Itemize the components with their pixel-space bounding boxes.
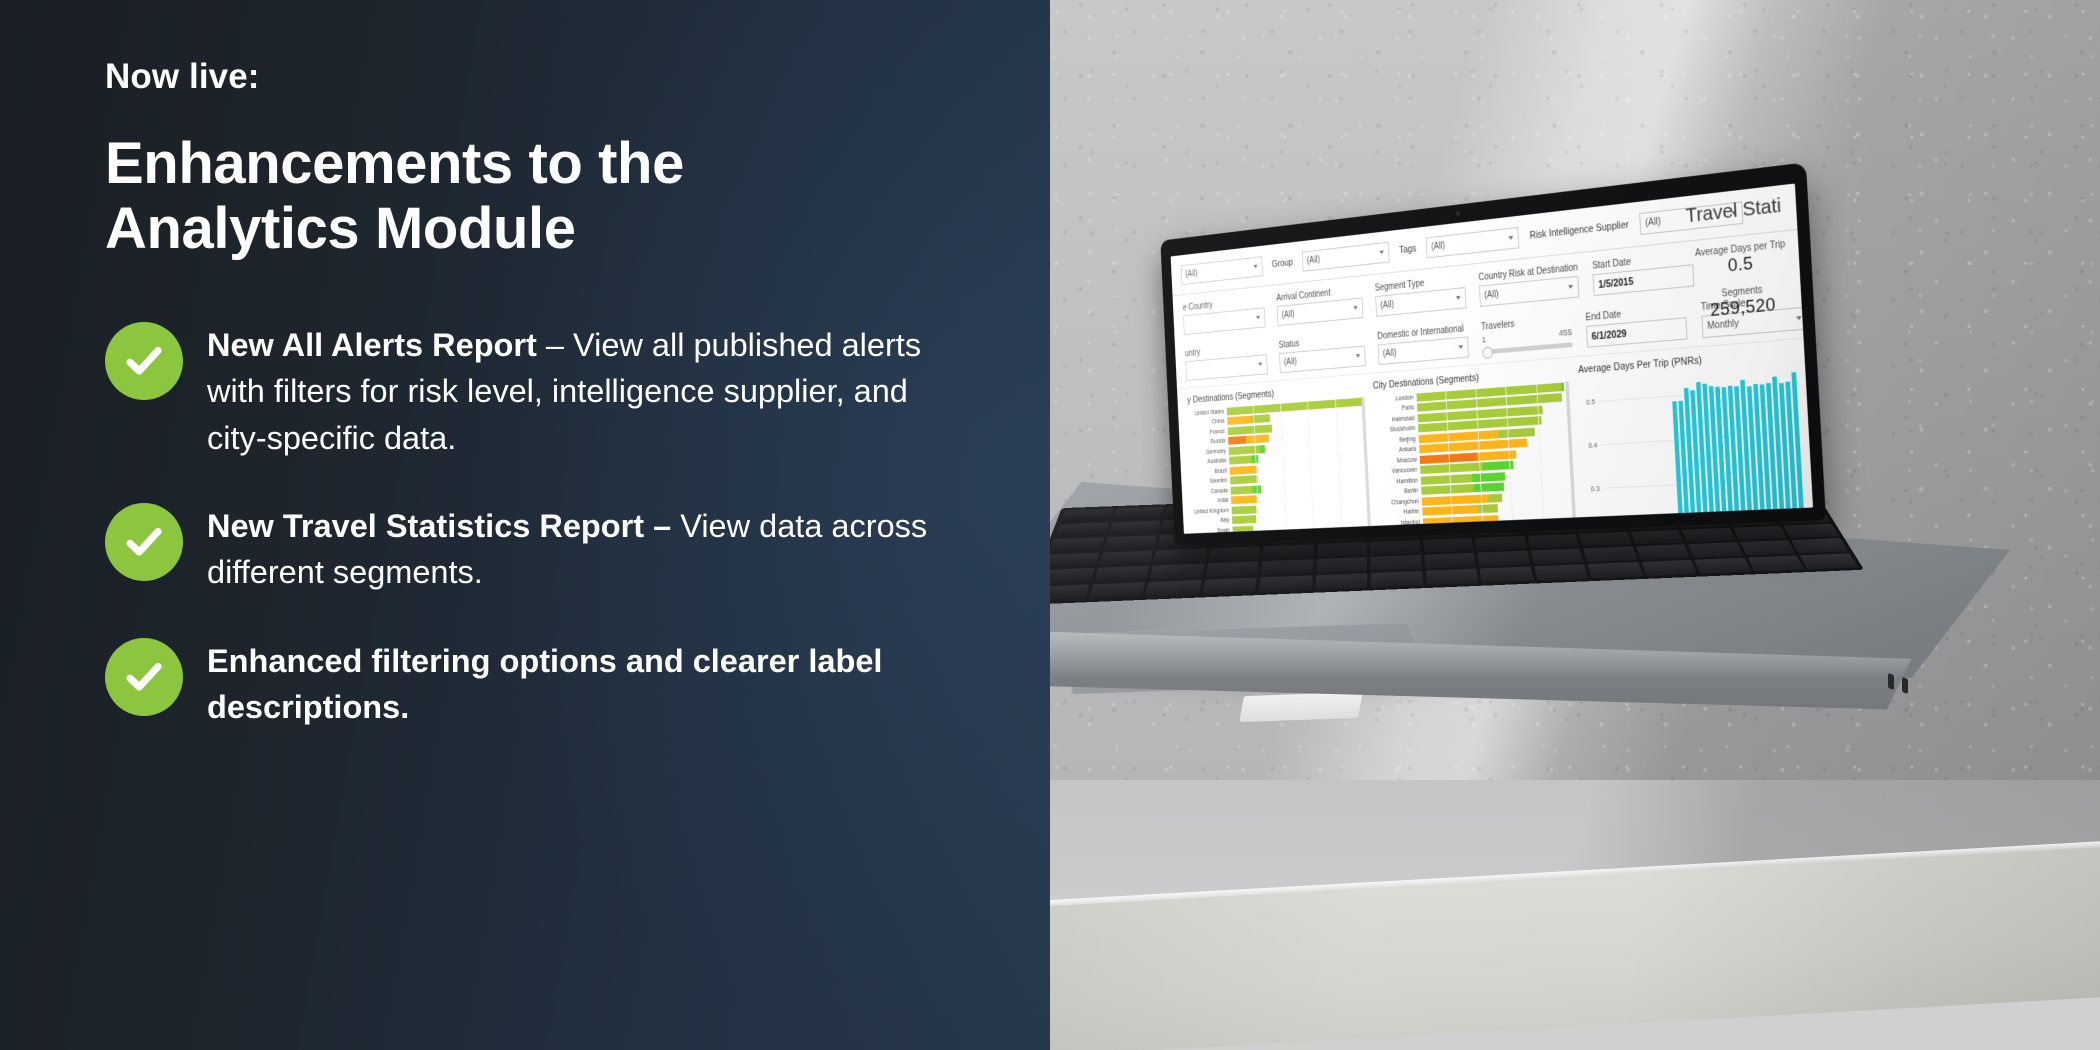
- filter-value: 6/1/2029: [1591, 328, 1626, 342]
- promo-banner: Now live: Enhancements to the Analytics …: [0, 0, 2100, 1050]
- keyboard-key[interactable]: [1145, 580, 1201, 597]
- category-label: Beijing: [1373, 436, 1419, 445]
- bar-segment-low: [1231, 505, 1256, 514]
- keyboard-key[interactable]: [1098, 550, 1153, 566]
- filter-field: End Date6/1/2029: [1585, 304, 1687, 348]
- analytics-dashboard: (All)▼Group(All)▼Tags(All)▼Risk Intellig…: [1171, 183, 1813, 533]
- filter-field: Travelers1455: [1481, 314, 1573, 356]
- keyboard-key[interactable]: [1050, 552, 1099, 568]
- bar-group: [1597, 364, 1809, 534]
- category-label: Sweden: [1188, 478, 1230, 486]
- category-label: Ankara: [1373, 446, 1419, 455]
- chevron-down-icon: ▼: [1457, 344, 1465, 351]
- chart-country-destinations: y Destinations (Segments) United StatesC…: [1184, 381, 1376, 533]
- bar-group: LondonParisHalmstadStockholmBeijingAnkar…: [1370, 381, 1581, 534]
- front-latch: [1239, 692, 1362, 722]
- category-label: Germany: [1187, 448, 1229, 457]
- bar-segment-negligible: [1561, 382, 1564, 391]
- bar-segment-negligible: [1472, 472, 1505, 482]
- feature-text: New All Alerts Report – View all publish…: [207, 318, 967, 461]
- category-label: Vancouver: [1374, 467, 1420, 476]
- bar-segment-low: [1230, 475, 1258, 484]
- chart-city-destinations: City Destinations (Segments) LondonParis…: [1370, 365, 1582, 533]
- filter-value: (All): [1307, 255, 1321, 266]
- feature-text: Enhanced filtering options and clearer l…: [207, 634, 967, 731]
- keyboard-key[interactable]: [1530, 549, 1583, 565]
- category-label: India: [1189, 498, 1231, 506]
- filter-value: (All): [1645, 216, 1661, 228]
- keyboard-key[interactable]: [1208, 546, 1261, 562]
- keyboard-key[interactable]: [1093, 566, 1149, 582]
- chart-average-days-per-trip: Average Days Per Trip (PNRs) 0.00.10.20.…: [1575, 347, 1811, 533]
- category-label: Hamilton: [1375, 477, 1421, 486]
- keyboard-key[interactable]: [1784, 524, 1839, 539]
- filter-dropdown[interactable]: (All)▼: [1378, 336, 1469, 365]
- bar-segment-negligible: [1252, 485, 1261, 493]
- category-label: Brazil: [1188, 468, 1230, 476]
- y-tick-label: 0.3: [1591, 484, 1600, 493]
- headline-line-1: Enhancements to the: [105, 131, 805, 197]
- bar-segment-low: [1230, 486, 1252, 495]
- check-circle-icon: [105, 503, 183, 581]
- bar-segment-low: [1229, 445, 1261, 455]
- kpi-card: Average Days per Trip0.5: [1695, 239, 1787, 280]
- keyboard-key[interactable]: [1149, 564, 1204, 580]
- filter-field: Country Risk at Destination(All)▼: [1478, 263, 1579, 307]
- keyboard-key[interactable]: [1588, 562, 1643, 578]
- filter-label: Risk Intelligence Supplier: [1529, 219, 1629, 241]
- bar-segment-low: [1232, 525, 1253, 533]
- filter-value: (All): [1185, 268, 1198, 279]
- category-label: China: [1185, 418, 1227, 427]
- left-content-panel: Now live: Enhancements to the Analytics …: [0, 0, 1050, 1050]
- keyboard-key[interactable]: [1688, 542, 1743, 557]
- keyboard-key[interactable]: [1060, 508, 1113, 522]
- y-tick-label: 0.4: [1588, 440, 1597, 449]
- keyboard-key[interactable]: [1103, 535, 1157, 550]
- keyboard-key[interactable]: [1202, 578, 1257, 595]
- laptop-lid: (All)▼Group(All)▼Tags(All)▼Risk Intellig…: [1160, 162, 1826, 545]
- category-label: Berlin: [1375, 488, 1421, 497]
- laptop-device: (All)▼Group(All)▼Tags(All)▼Risk Intellig…: [1050, 160, 2100, 820]
- keyboard-key[interactable]: [1055, 523, 1109, 538]
- category-label: Australia: [1187, 458, 1229, 467]
- filter-dropdown[interactable]: (All)▼: [1181, 256, 1263, 285]
- keyboard-key[interactable]: [1261, 559, 1314, 575]
- keyboard-key[interactable]: [1636, 544, 1691, 560]
- category-label: Canada: [1189, 488, 1231, 496]
- check-circle-icon: [105, 322, 183, 400]
- webcam-icon: [1456, 211, 1460, 216]
- keyboard-key[interactable]: [1205, 562, 1259, 578]
- category-label: Changchun: [1376, 498, 1422, 506]
- eyebrow-text: Now live:: [105, 58, 1050, 97]
- bar-segment-medium: [1423, 515, 1499, 526]
- feature-item: New All Alerts Report – View all publish…: [105, 318, 1050, 461]
- filter-value: (All): [1380, 300, 1394, 311]
- bar-segment-medium: [1227, 416, 1252, 425]
- keyboard-key[interactable]: [1792, 538, 1849, 553]
- slider-min: 1: [1482, 335, 1487, 345]
- usb-port-icon: [1888, 673, 1894, 690]
- filter-value: (All): [1284, 357, 1297, 368]
- keyboard-key[interactable]: [1050, 537, 1104, 552]
- category-label: France: [1186, 428, 1228, 437]
- keyboard-key[interactable]: [1695, 558, 1752, 574]
- keyboard-key[interactable]: [1480, 566, 1534, 582]
- bar-segment-negligible: [1260, 445, 1266, 453]
- chevron-down-icon: ▼: [1257, 361, 1264, 368]
- keyboard-key[interactable]: [1088, 582, 1146, 599]
- keyboard-key[interactable]: [1631, 530, 1685, 545]
- bar-segment-low: [1229, 456, 1252, 465]
- desk-surface: [1050, 780, 2100, 1050]
- keyboard-key[interactable]: [1527, 534, 1579, 549]
- filter-field: Arrival Continent(All)▼: [1276, 285, 1363, 326]
- keyboard-key[interactable]: [1740, 540, 1796, 555]
- keyboard-key[interactable]: [1800, 553, 1858, 569]
- keyboard-key[interactable]: [1641, 560, 1697, 576]
- chevron-down-icon: ▼: [1454, 295, 1462, 302]
- category-label: Italy: [1190, 517, 1232, 525]
- column-chart: 0.00.10.20.30.40.520232024: [1575, 364, 1810, 534]
- category-label: Halmstad: [1371, 415, 1417, 424]
- kpi-card: Segments259,520: [1697, 283, 1789, 323]
- bar-segment-low: [1423, 527, 1467, 534]
- filter-field: untry▼: [1185, 342, 1268, 381]
- keyboard-key[interactable]: [1579, 532, 1632, 547]
- keyboard-key[interactable]: [1475, 536, 1527, 551]
- slider-max: 455: [1558, 327, 1572, 338]
- keyboard-key[interactable]: [1477, 551, 1530, 567]
- range-slider[interactable]: 1455: [1482, 327, 1573, 354]
- keyboard-key[interactable]: [1682, 528, 1736, 543]
- feature-title: New Travel Statistics Report –: [207, 508, 671, 544]
- feature-item: New Travel Statistics Report – View data…: [105, 499, 1050, 596]
- category-label: Spain: [1191, 527, 1233, 534]
- bar-segment-medium: [1230, 465, 1258, 474]
- filter-dropdown[interactable]: (All)▼: [1302, 241, 1390, 271]
- category-label: United States: [1185, 408, 1227, 417]
- keyboard-key[interactable]: [1108, 521, 1161, 536]
- chevron-down-icon: ▼: [1352, 305, 1360, 312]
- feature-title: New All Alerts Report: [207, 327, 537, 363]
- category-label: Harbin: [1376, 509, 1422, 517]
- chevron-down-icon: ▼: [1567, 284, 1575, 291]
- keyboard-key[interactable]: [1423, 538, 1474, 553]
- category-label: United Kingdom: [1190, 507, 1232, 515]
- chevron-down-icon: ▼: [1507, 234, 1515, 241]
- filter-dropdown[interactable]: (All)▼: [1279, 346, 1366, 374]
- bar-segment-medium: [1477, 450, 1516, 461]
- category-label: Moscow: [1374, 457, 1420, 466]
- filter-field: Domestic or International(All)▼: [1377, 324, 1469, 365]
- filter-label: Tags: [1399, 243, 1417, 256]
- keyboard-key[interactable]: [1316, 557, 1368, 573]
- feature-item: Enhanced filtering options and clearer l…: [105, 634, 1050, 731]
- chevron-down-icon: ▼: [1378, 249, 1386, 256]
- chevron-down-icon: ▼: [1794, 315, 1803, 323]
- keyboard-key[interactable]: [1112, 507, 1164, 521]
- keyboard-key[interactable]: [1050, 568, 1094, 584]
- keyboard-key[interactable]: [1370, 540, 1421, 555]
- keyboard-key[interactable]: [1748, 556, 1805, 572]
- bar-segment-medium: [1246, 435, 1269, 444]
- keyboard-key[interactable]: [1050, 585, 1089, 602]
- kpi-panel: Average Days per Trip0.5Segments259,520: [1695, 239, 1790, 333]
- bar-segment-low: [1477, 504, 1498, 513]
- keyboard-key[interactable]: [1316, 542, 1367, 557]
- bar-segment-low: [1232, 515, 1257, 524]
- keyboard-key[interactable]: [1425, 569, 1478, 586]
- bar-segment-low: [1488, 493, 1503, 502]
- keyboard-key[interactable]: [1262, 544, 1314, 559]
- feature-title: Enhanced filtering options and clearer l…: [207, 643, 882, 725]
- bar-track: [1233, 531, 1372, 534]
- filter-dropdown[interactable]: ▼: [1185, 354, 1267, 381]
- category-label: Paris: [1371, 405, 1417, 415]
- bar-segment-low: [1498, 427, 1535, 438]
- headline-line-2: Analytics Module: [105, 196, 805, 262]
- keyboard-key[interactable]: [1733, 526, 1788, 541]
- filter-value: (All): [1383, 348, 1397, 359]
- feature-text: New Travel Statistics Report – View data…: [207, 499, 967, 596]
- bar-segment-medium: [1422, 505, 1477, 516]
- filter-value: (All): [1281, 310, 1294, 321]
- slider-handle[interactable]: [1482, 346, 1493, 359]
- bar-segment-low: [1251, 414, 1270, 423]
- chevron-down-icon: ▼: [1354, 353, 1362, 360]
- keyboard-key[interactable]: [1534, 564, 1589, 580]
- bar-segment-negligible: [1251, 455, 1258, 463]
- keyboard-key[interactable]: [1315, 573, 1368, 590]
- filter-value: 1/5/2015: [1598, 276, 1634, 291]
- check-circle-icon: [105, 638, 183, 716]
- bar-segment-negligible: [1483, 461, 1514, 471]
- usb-port-icon: [1902, 677, 1908, 694]
- product-photo-panel: (All)▼Group(All)▼Tags(All)▼Risk Intellig…: [1050, 0, 2100, 1050]
- keyboard-key[interactable]: [1371, 571, 1424, 588]
- keyboard-key[interactable]: [1370, 555, 1422, 571]
- filter-value: (All): [1484, 289, 1499, 301]
- page-title: Enhancements to the Analytics Module: [105, 131, 805, 262]
- filter-field: e Country▼: [1183, 295, 1266, 335]
- laptop-screen: (All)▼Group(All)▼Tags(All)▼Risk Intellig…: [1171, 183, 1813, 533]
- category-label: Russia: [1186, 438, 1228, 447]
- bar-segment-negligible: [1467, 526, 1498, 534]
- filter-dropdown[interactable]: (All)▼: [1426, 226, 1520, 257]
- filter-value: (All): [1431, 240, 1445, 252]
- keyboard-key[interactable]: [1153, 548, 1207, 564]
- bar-segment-high: [1228, 436, 1246, 445]
- keyboard-key[interactable]: [1583, 547, 1637, 563]
- filter-field: Start Date1/5/2015: [1592, 251, 1695, 296]
- category-label: Istanbul: [1377, 519, 1423, 527]
- bar-segment-low: [1421, 484, 1474, 495]
- bar-segment-negligible: [1473, 483, 1504, 493]
- chevron-down-icon: ▼: [1252, 263, 1259, 270]
- y-tick-label: 0.5: [1586, 397, 1595, 406]
- bar-segment-medium: [1231, 495, 1257, 504]
- filter-field: Segment Type(All)▼: [1375, 274, 1467, 316]
- keyboard-key[interactable]: [1424, 553, 1476, 569]
- keyboard-key[interactable]: [1259, 575, 1313, 592]
- category-label: Brussels: [1377, 529, 1423, 533]
- chevron-down-icon: ▼: [1255, 315, 1262, 322]
- filter-label: Group: [1272, 257, 1294, 270]
- category-label: Stockholm: [1372, 425, 1418, 434]
- filter-field: Status(All)▼: [1278, 333, 1365, 373]
- category-label: London: [1370, 394, 1416, 404]
- feature-list: New All Alerts Report – View all publish…: [105, 318, 1050, 731]
- bar-group: United StatesChinaFranceRussiaGermanyAus…: [1185, 397, 1376, 534]
